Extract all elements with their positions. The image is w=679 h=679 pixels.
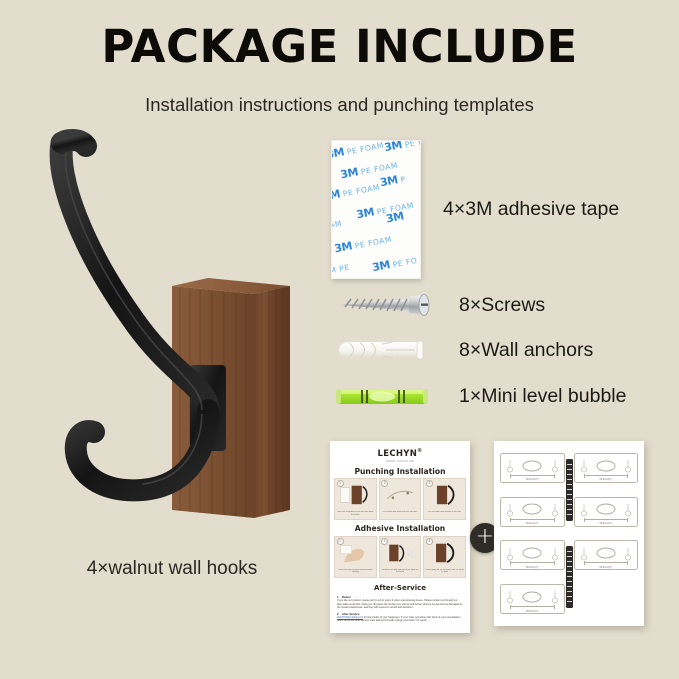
template-screw-marker [579, 548, 590, 561]
item-adhesive-tape: 3M PE FOAM 3MPE FO 3MPE FOAM 3MPE FOAM 3… [331, 140, 619, 279]
tape-material-text: PE FOAM [346, 141, 385, 157]
template-dimension-line [510, 475, 555, 476]
note-title: 1Return [337, 595, 463, 599]
tape-brand-text: 3M [331, 145, 345, 161]
template-dimension-line [510, 519, 555, 520]
after-service-heading: After-Service [330, 584, 470, 592]
template-card: 50.8mm(2") [574, 497, 639, 527]
template-center-oval [596, 460, 615, 471]
template-screw-marker [622, 504, 633, 517]
template-dimension-line [510, 562, 555, 563]
item-wall-anchors: 8×Wall anchors [331, 337, 593, 363]
template-screw-marker [549, 460, 560, 473]
template-screw-marker [549, 504, 560, 517]
item-label-level-bubble: 1×Mini level bubble [459, 385, 626, 408]
infographic-canvas: PACKAGE INCLUDE Installation instruction… [0, 0, 679, 679]
step-caption: Drill holes and insert the wall anchors [381, 511, 420, 518]
template-dimension-line [510, 606, 555, 607]
plus-icon: + [476, 526, 494, 548]
template-card: 50.8mm(2") [500, 453, 565, 483]
page-subtitle: Installation instructions and punching t… [0, 94, 679, 116]
template-screw-marker [549, 591, 560, 604]
brand-name: LECHYN [378, 449, 418, 459]
template-dimension-label: 50.8mm(2") [501, 478, 564, 481]
template-center-oval [523, 460, 542, 471]
template-dimension-line [584, 475, 629, 476]
step-caption: Stick the template on the wall and mark … [336, 511, 375, 518]
template-center-oval [523, 548, 542, 559]
instruction-sheet: LECHYN® HOME ORGANIZE Punching Installat… [330, 441, 470, 633]
item-label-adhesive-tape: 4×3M adhesive tape [443, 198, 619, 221]
brand-registered-mark: ® [417, 448, 422, 454]
section-heading-punching: Punching Installation [330, 467, 470, 476]
step-caption: Fix the hook with screws to the wall [425, 511, 464, 518]
template-screw-marker [505, 504, 516, 517]
step-caption: Remove the film and press the tape on th… [381, 569, 420, 576]
after-service-notes: 1Return If you like our product, please … [330, 595, 470, 623]
template-dimension-line [584, 562, 629, 563]
item-label-screws: 8×Screws [459, 294, 545, 317]
template-screw-marker [622, 548, 633, 561]
step-number: 2 [381, 538, 388, 545]
template-dimension-label: 50.8mm(2") [575, 478, 638, 481]
item-level-bubble: 1×Mini level bubble [331, 384, 626, 408]
template-card: 50.8mm(2") [574, 540, 639, 570]
template-dimension-label: 50.8mm(2") [501, 566, 564, 569]
step-number: 3 [426, 538, 433, 545]
template-card: 50.8mm(2") [500, 584, 565, 614]
wall-anchor-icon [331, 337, 436, 363]
note-body: If you like our product, please don't ru… [337, 599, 463, 609]
product-image-hook [22, 118, 322, 543]
step-caption: Clean and dry the wall surface before st… [336, 569, 375, 576]
step-number: 1 [337, 480, 344, 487]
template-screw-marker [579, 460, 590, 473]
step-caption: Press firmly for 30 seconds, wait 24 hou… [425, 569, 464, 576]
template-center-oval [596, 504, 615, 515]
template-dimension-label: 50.8mm(2") [575, 566, 638, 569]
template-dimension-label: 50.8mm(2") [575, 522, 638, 525]
template-dimension-line [584, 519, 629, 520]
page-title: PACKAGE INCLUDE [0, 20, 679, 73]
item-label-wall-anchors: 8×Wall anchors [459, 339, 593, 362]
template-card: 50.8mm(2") [500, 540, 565, 570]
template-center-oval [523, 591, 542, 602]
template-ruler-strip [566, 546, 573, 608]
steps-adhesive: 1 Clean and dry the wall surface before … [330, 536, 470, 578]
template-screw-marker [505, 460, 516, 473]
template-center-oval [523, 504, 542, 515]
template-dimension-label: 50.8mm(2") [501, 610, 564, 613]
template-screw-marker [505, 591, 516, 604]
template-screw-marker [622, 460, 633, 473]
template-card: 50.8mm(2") [500, 497, 565, 527]
brand-logo: LECHYN® [330, 448, 470, 459]
product-caption: 4×walnut wall hooks [22, 558, 322, 580]
template-grid: 50.8mm(2") [500, 448, 638, 619]
template-ruler-strip [566, 459, 573, 521]
screw-icon [331, 292, 436, 318]
template-screw-marker [505, 548, 516, 561]
3m-tape-icon: 3M PE FOAM 3MPE FO 3MPE FOAM 3MPE FOAM 3… [331, 140, 421, 279]
step-thumbnail: 1 Clean and dry the wall surface before … [334, 536, 377, 578]
step-number: 1 [337, 538, 344, 545]
template-screw-marker [579, 504, 590, 517]
level-bubble-icon [331, 384, 436, 408]
steps-punching: 1 Stick the template on the wall and mar… [330, 478, 470, 520]
note-body: LECHYN@outlook.com for the priority of y… [337, 616, 463, 623]
step-thumbnail: 1 Stick the template on the wall and mar… [334, 478, 377, 520]
brand-tagline: HOME ORGANIZE [330, 460, 470, 463]
punching-template-sheet: 50.8mm(2") [494, 441, 644, 626]
step-thumbnail: 2 Drill holes and insert the wall anchor… [379, 478, 422, 520]
step-thumbnail: 3 Press firmly for 30 seconds, wait 24 h… [423, 536, 466, 578]
template-card: 50.8mm(2") [574, 453, 639, 483]
template-screw-marker [549, 548, 560, 561]
step-thumbnail: 3 Fix the hook with screws to the wall [423, 478, 466, 520]
item-screws: 8×Screws [331, 292, 545, 318]
template-center-oval [596, 548, 615, 559]
template-dimension-label: 50.8mm(2") [501, 522, 564, 525]
documents-group: LECHYN® HOME ORGANIZE Punching Installat… [322, 437, 652, 637]
step-thumbnail: 2 Remove the film and press the tape on … [379, 536, 422, 578]
section-heading-adhesive: Adhesive Installation [330, 524, 470, 533]
note-title: 2After-Service [337, 612, 463, 616]
